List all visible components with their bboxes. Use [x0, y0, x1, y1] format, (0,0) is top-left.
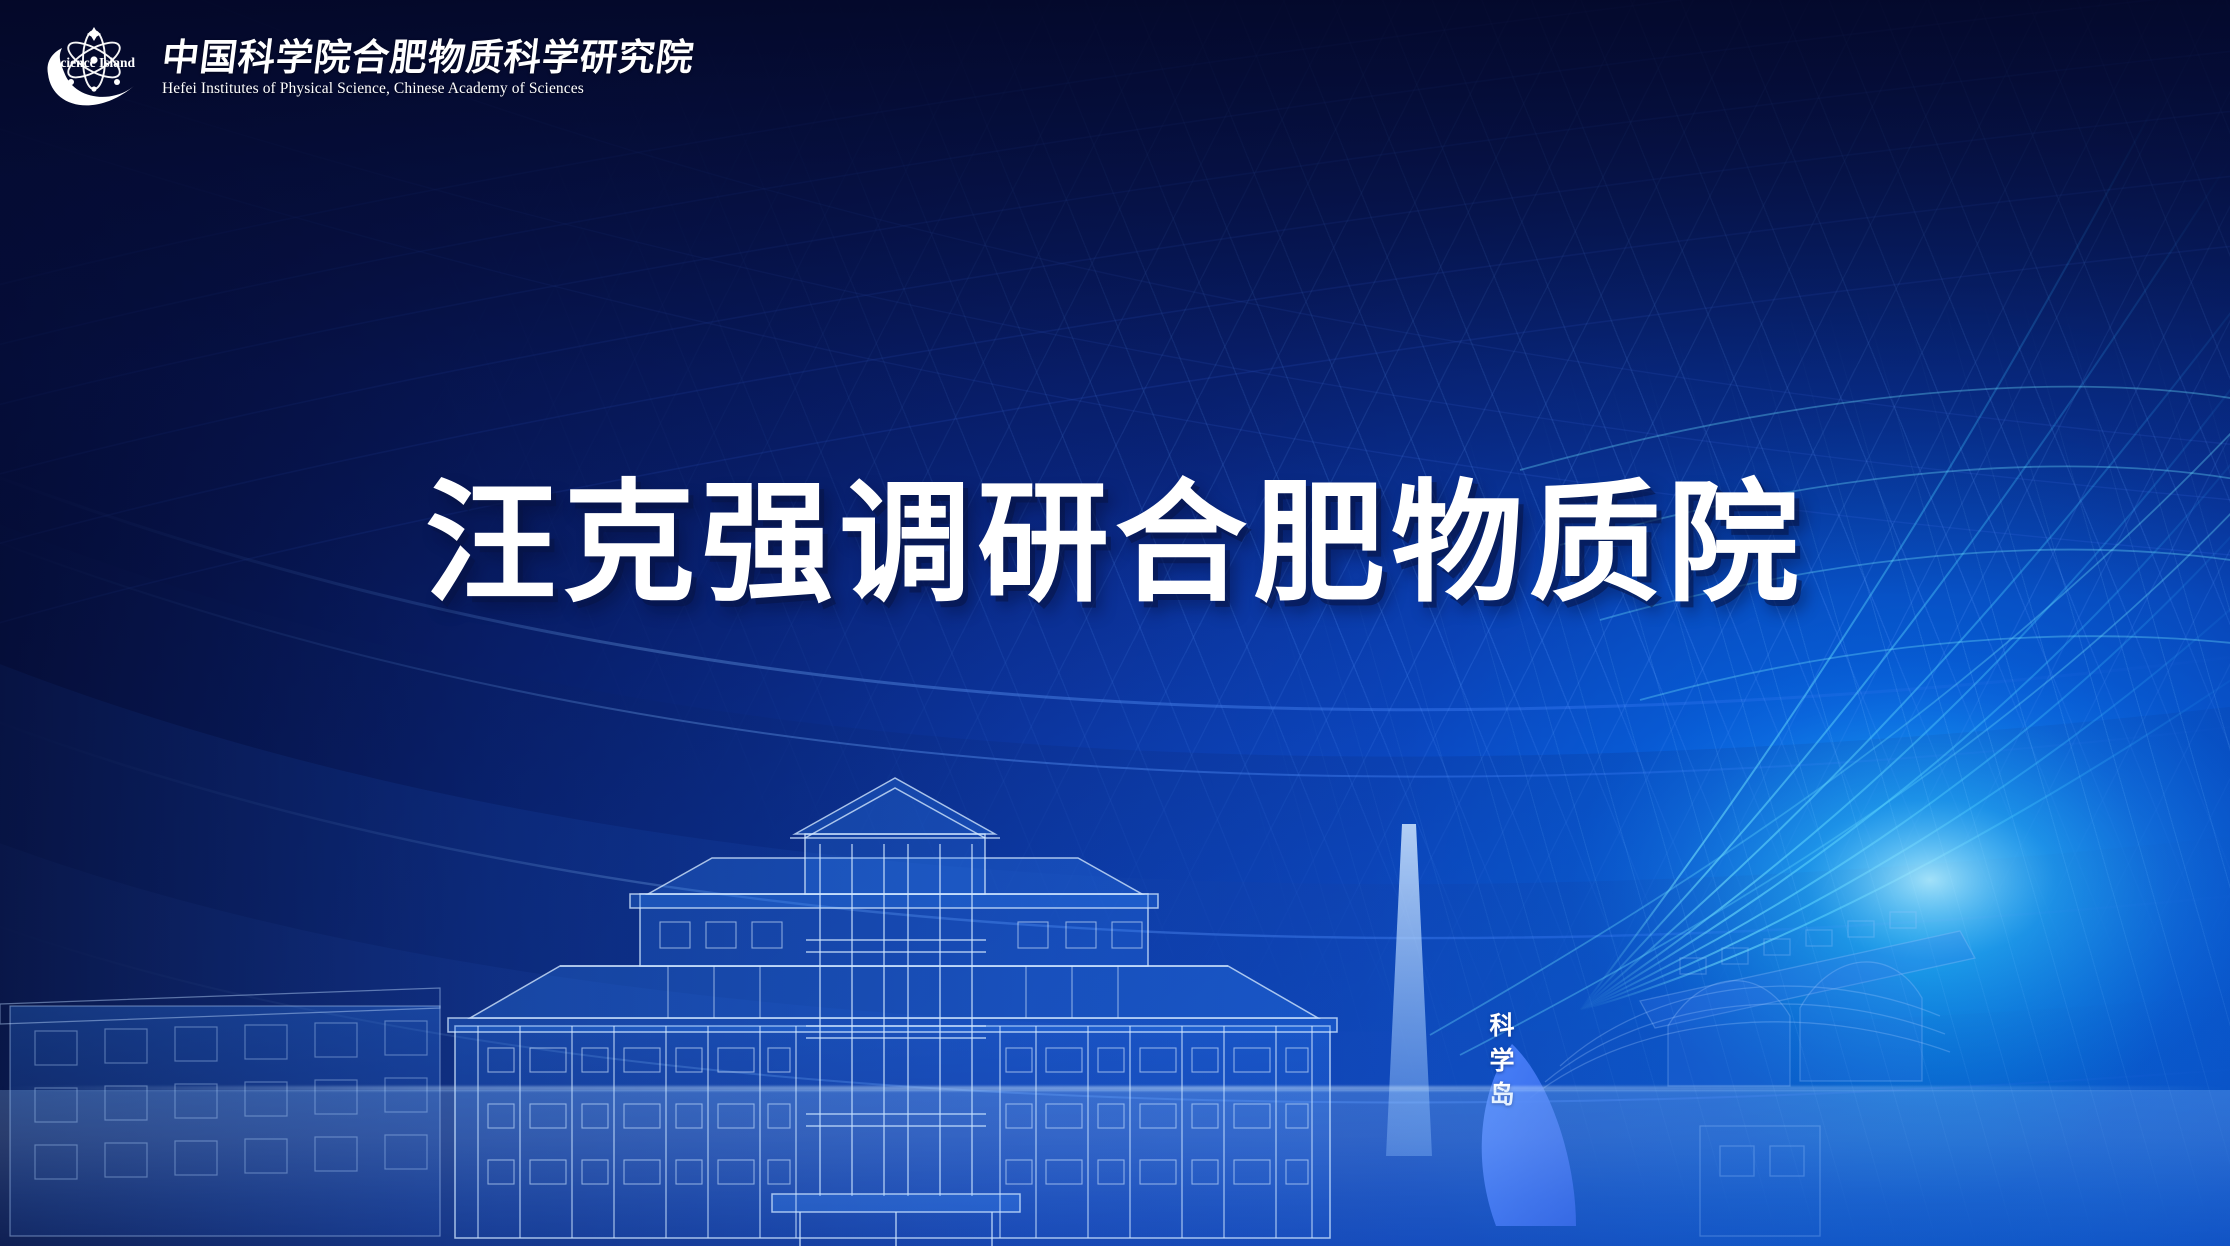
org-name-en: Hefei Institutes of Physical Science, Ch…	[162, 80, 694, 97]
science-island-emblem-text: Science Island	[53, 55, 136, 70]
monument-inscription: 科学岛	[1484, 1010, 1520, 1114]
slide-title: 汪克强调研合肥物质院	[0, 470, 2230, 618]
institute-main-building	[448, 778, 1337, 1246]
campus-skyline-illustration	[0, 726, 2230, 1246]
institute-logo[interactable]: Science Island 中国科学院合肥物质科学研究院 Hefei Inst…	[40, 22, 694, 114]
science-island-spire	[1386, 824, 1432, 1156]
slide-canvas: 科学岛 Science Island	[0, 0, 2230, 1246]
science-island-atom-icon: Science Island	[40, 22, 148, 114]
org-name-cn: 中国科学院合肥物质科学研究院	[160, 39, 697, 78]
logo-wordmark: 中国科学院合肥物质科学研究院 Hefei Institutes of Physi…	[162, 39, 694, 97]
